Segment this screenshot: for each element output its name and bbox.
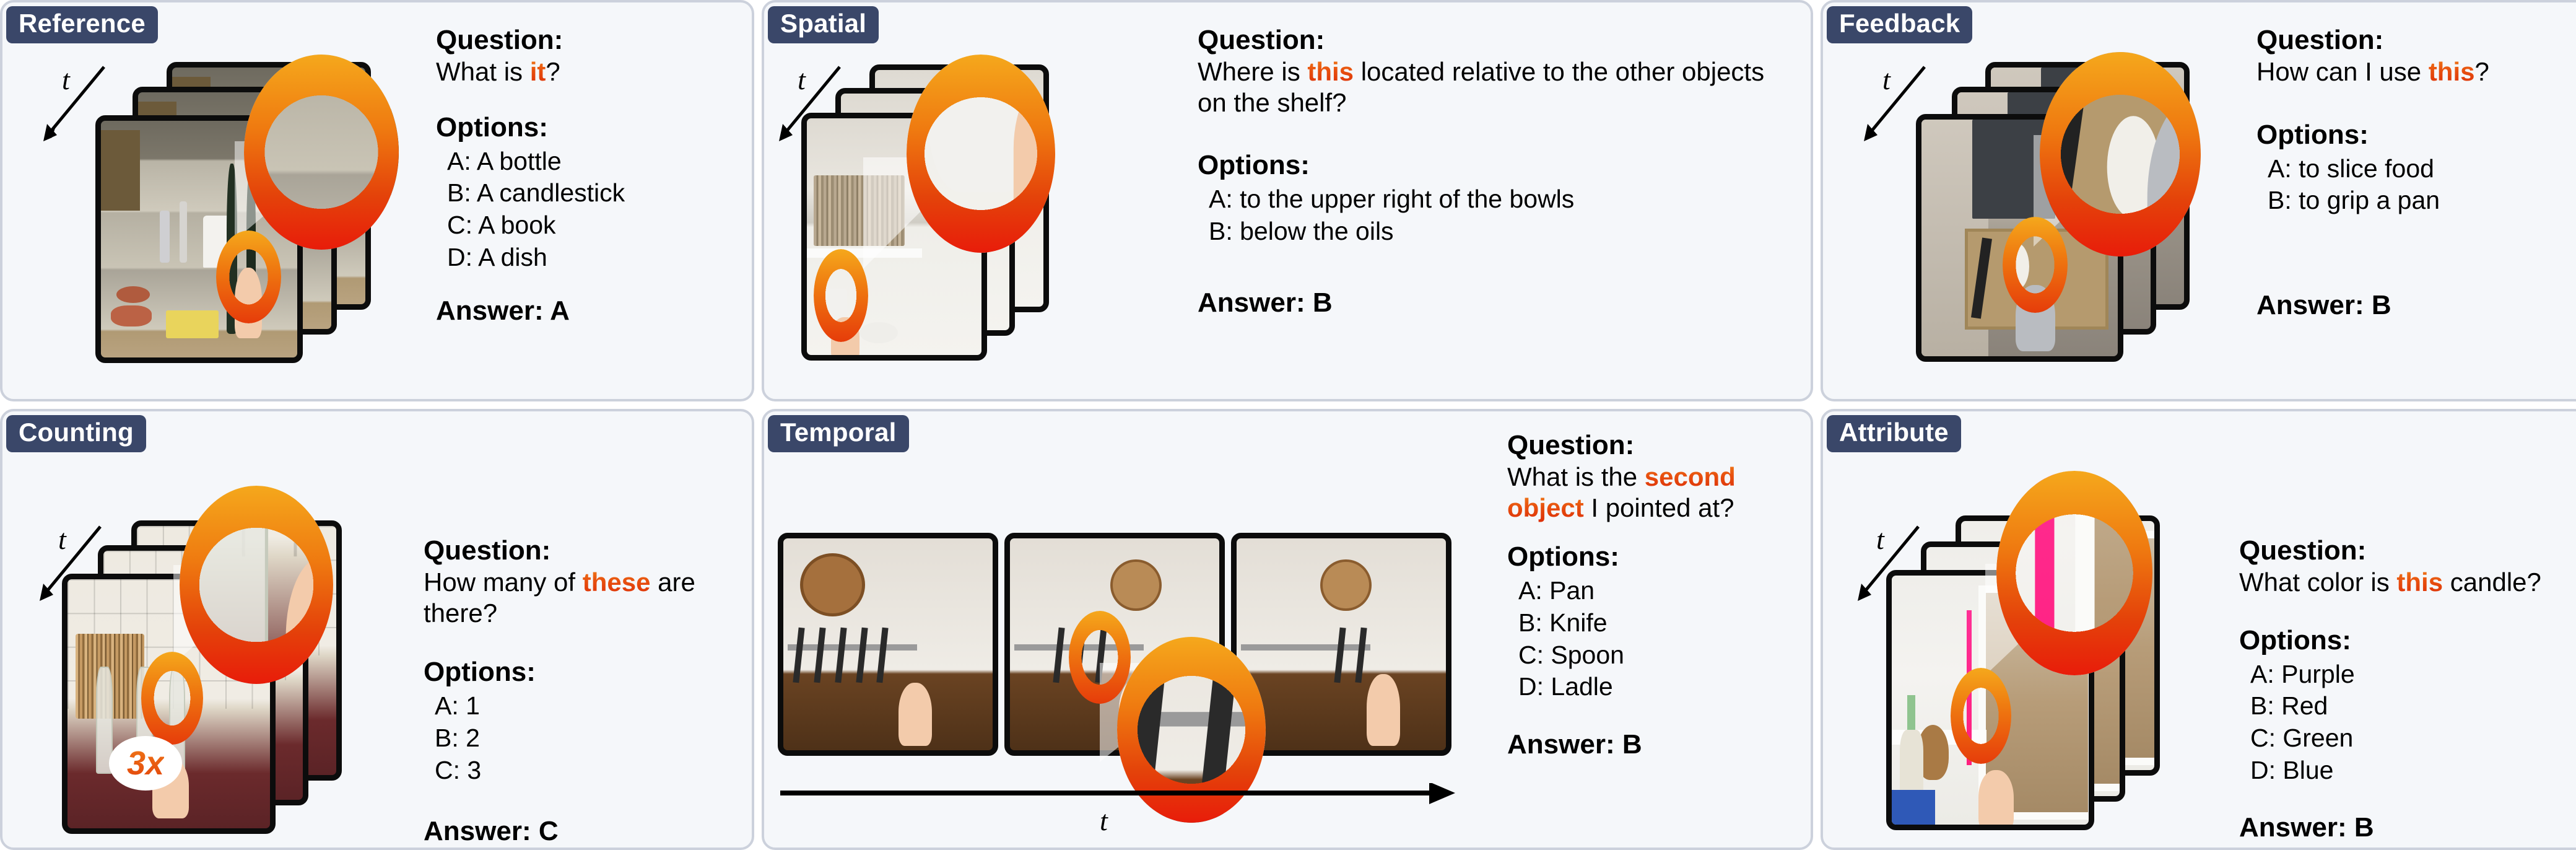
pointed-object-ellipse xyxy=(141,652,203,745)
pointed-object-ellipse xyxy=(1069,611,1131,704)
option-item: B: A candlestick xyxy=(447,177,733,209)
category-badge-feedback: Feedback xyxy=(1827,6,1972,43)
option-item: B: Knife xyxy=(1518,607,1798,639)
question-highlight: it xyxy=(530,57,546,86)
answer-text: Answer: B xyxy=(1507,729,1798,760)
options-list: A: Purple B: Red C: Green D: Blue xyxy=(2239,659,2576,787)
frame-photo xyxy=(783,538,993,750)
option-item: A: Pan xyxy=(1518,575,1798,607)
options-label: Options: xyxy=(436,112,733,143)
frame-stack-counting: 3x xyxy=(62,520,384,836)
pointed-object-ellipse xyxy=(216,230,281,323)
panel-counting: Counting t xyxy=(0,409,754,850)
panel-reference: Reference t xyxy=(0,0,754,401)
option-item: B: to grip a pan xyxy=(2268,185,2566,217)
frame-stack-feedback xyxy=(1916,62,2226,372)
category-badge-attribute: Attribute xyxy=(1827,415,1961,452)
question-highlight: this xyxy=(2429,57,2475,86)
question-label: Question: xyxy=(2256,25,2566,55)
frame-photo xyxy=(1237,538,1446,750)
panel-spatial: Spatial t xyxy=(762,0,1813,401)
magnifier-ring xyxy=(1996,471,2152,675)
category-badge-counting: Counting xyxy=(6,415,146,452)
question-label: Question: xyxy=(1507,430,1798,460)
magnifier-ring xyxy=(907,55,1055,253)
answer-text: Answer: A xyxy=(436,296,733,326)
magnifier-ring xyxy=(2040,52,2201,256)
option-item: D: Blue xyxy=(2250,755,2576,787)
category-badge-reference: Reference xyxy=(6,6,158,43)
options-list: A: A bottle B: A candlestick C: A book D… xyxy=(436,146,733,274)
option-item: C: Green xyxy=(2250,722,2576,755)
pointed-object-ellipse xyxy=(814,249,868,342)
time-axis-arrow-counting: t xyxy=(33,522,108,602)
time-axis-arrow-temporal: t xyxy=(778,783,1471,845)
options-label: Options: xyxy=(1507,541,1798,572)
question-label: Question: xyxy=(436,25,733,55)
option-item: A: to slice food xyxy=(2268,153,2566,185)
pointed-object-ellipse xyxy=(2003,217,2068,313)
qa-block-attribute: Question: What color is this candle? Opt… xyxy=(2239,535,2576,843)
pointed-object-ellipse xyxy=(1951,668,2011,764)
question-label: Question: xyxy=(1198,25,1780,55)
option-item: B: below the oils xyxy=(1209,216,1780,248)
question-text: What is the second object I pointed at? xyxy=(1507,462,1798,523)
question-text: How many of these are there? xyxy=(424,567,733,628)
options-list: A: 1 B: 2 C: 3 xyxy=(424,690,733,786)
options-list: A: to slice food B: to grip a pan xyxy=(2256,153,2566,217)
options-label: Options: xyxy=(424,657,733,688)
answer-text: Answer: B xyxy=(2239,812,2576,843)
option-item: B: Red xyxy=(2250,690,2576,722)
benchmark-example-grid: Reference t xyxy=(0,0,2576,843)
qa-block-reference: Question: What is it? Options: A: A bott… xyxy=(436,25,733,326)
qa-block-feedback: Question: How can I use this? Options: A… xyxy=(2256,25,2566,321)
option-item: C: Spoon xyxy=(1518,639,1798,672)
magnifier-ring xyxy=(244,55,399,250)
option-item: A: Purple xyxy=(2250,659,2576,691)
question-text: What color is this candle? xyxy=(2239,567,2576,598)
category-badge-temporal: Temporal xyxy=(768,415,909,452)
time-axis-arrow-reference: t xyxy=(37,62,111,142)
options-label: Options: xyxy=(1198,150,1780,181)
question-text: What is it? xyxy=(436,56,733,87)
time-axis-arrow-spatial: t xyxy=(773,62,847,142)
question-highlight: this xyxy=(1307,57,1354,86)
options-list: A: to the upper right of the bowls B: be… xyxy=(1198,183,1780,247)
options-list: A: Pan B: Knife C: Spoon D: Ladle xyxy=(1507,575,1798,703)
magnifier-ring xyxy=(180,486,333,684)
time-axis-label: t xyxy=(1100,804,1108,837)
frame-stack-reference xyxy=(95,62,405,372)
option-item: C: 3 xyxy=(435,755,733,787)
frame-stack-temporal xyxy=(778,533,1496,818)
panel-attribute: Attribute t xyxy=(1821,409,2576,850)
qa-block-temporal: Question: What is the second object I po… xyxy=(1507,430,1798,760)
options-label: Options: xyxy=(2239,625,2576,656)
time-axis-arrow-feedback: t xyxy=(1858,62,1932,142)
question-label: Question: xyxy=(2239,535,2576,566)
option-item: B: 2 xyxy=(435,722,733,755)
question-label: Question: xyxy=(424,535,733,566)
qa-block-counting: Question: How many of these are there? O… xyxy=(424,535,733,847)
question-text: Where is this located relative to the ot… xyxy=(1198,56,1780,118)
repeat-count-badge: 3x xyxy=(109,736,182,791)
answer-text: Answer: B xyxy=(2256,290,2566,321)
qa-block-spatial: Question: Where is this located relative… xyxy=(1198,25,1780,318)
option-item: A: 1 xyxy=(435,690,733,722)
option-item: D: Ladle xyxy=(1518,671,1798,703)
option-item: D: A dish xyxy=(447,242,733,274)
video-frame-t1 xyxy=(778,533,998,756)
question-highlight: this xyxy=(2396,567,2443,597)
option-item: C: A book xyxy=(447,209,733,242)
frame-stack-attribute xyxy=(1886,515,2208,838)
repeat-count-text: 3x xyxy=(127,744,164,782)
question-highlight: these xyxy=(583,567,651,597)
category-badge-spatial: Spatial xyxy=(768,6,879,43)
option-item: A: to the upper right of the bowls xyxy=(1209,183,1780,216)
panel-feedback: Feedback t xyxy=(1821,0,2576,401)
time-axis-arrow-attribute: t xyxy=(1851,522,1926,602)
panel-temporal: Temporal xyxy=(762,409,1813,850)
answer-text: Answer: B xyxy=(1198,287,1780,318)
option-item: A: A bottle xyxy=(447,146,733,178)
question-text: How can I use this? xyxy=(2256,56,2566,87)
options-label: Options: xyxy=(2256,120,2566,151)
